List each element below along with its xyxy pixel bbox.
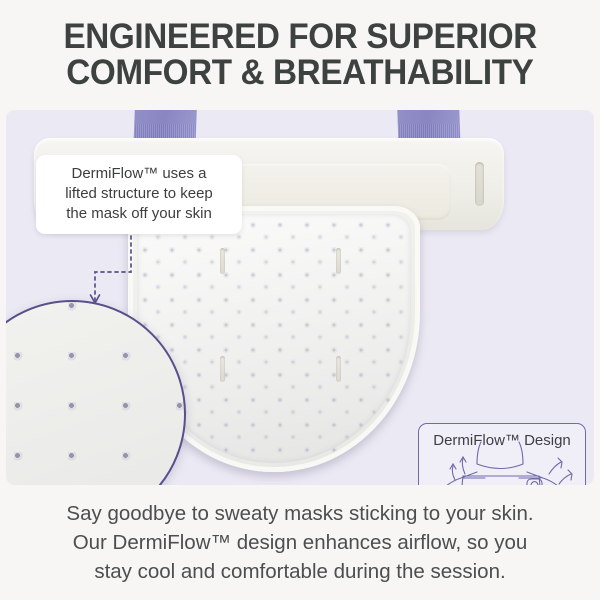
- callout-line-1: DermiFlow™ uses a: [48, 164, 230, 184]
- callout-line-3: the mask off your skin: [48, 204, 230, 224]
- footer-line-1: Say goodbye to sweaty masks sticking to …: [66, 499, 533, 528]
- infographic-canvas: ENGINEERED FOR SUPERIOR COMFORT & BREATH…: [0, 0, 600, 600]
- strap-slot-right: [475, 162, 484, 206]
- header-section: ENGINEERED FOR SUPERIOR COMFORT & BREATH…: [0, 0, 600, 110]
- footer-line-2: Our DermiFlow™ design enhances airflow, …: [66, 528, 533, 557]
- inset-title: DermiFlow™ Design: [419, 432, 585, 449]
- headline-line-2: COMFORT & BREATHABILITY: [66, 55, 533, 91]
- callout-line-2: lifted structure to keep: [48, 184, 230, 204]
- mask-vent-bar-3: [220, 356, 225, 382]
- mask-vent-bar-4: [336, 356, 341, 382]
- dermiflow-design-inset: DermiFlow™ Design iRESTORE: [418, 423, 586, 485]
- footer-line-3: stay cool and comfortable during the ses…: [66, 557, 533, 586]
- callout-box: DermiFlow™ uses a lifted structure to ke…: [36, 155, 242, 234]
- footer-section: Say goodbye to sweaty masks sticking to …: [0, 485, 600, 600]
- headline-line-1: ENGINEERED FOR SUPERIOR: [63, 19, 536, 55]
- mask-vent-bar-2: [336, 248, 341, 274]
- mask-vent-bar-1: [220, 248, 225, 274]
